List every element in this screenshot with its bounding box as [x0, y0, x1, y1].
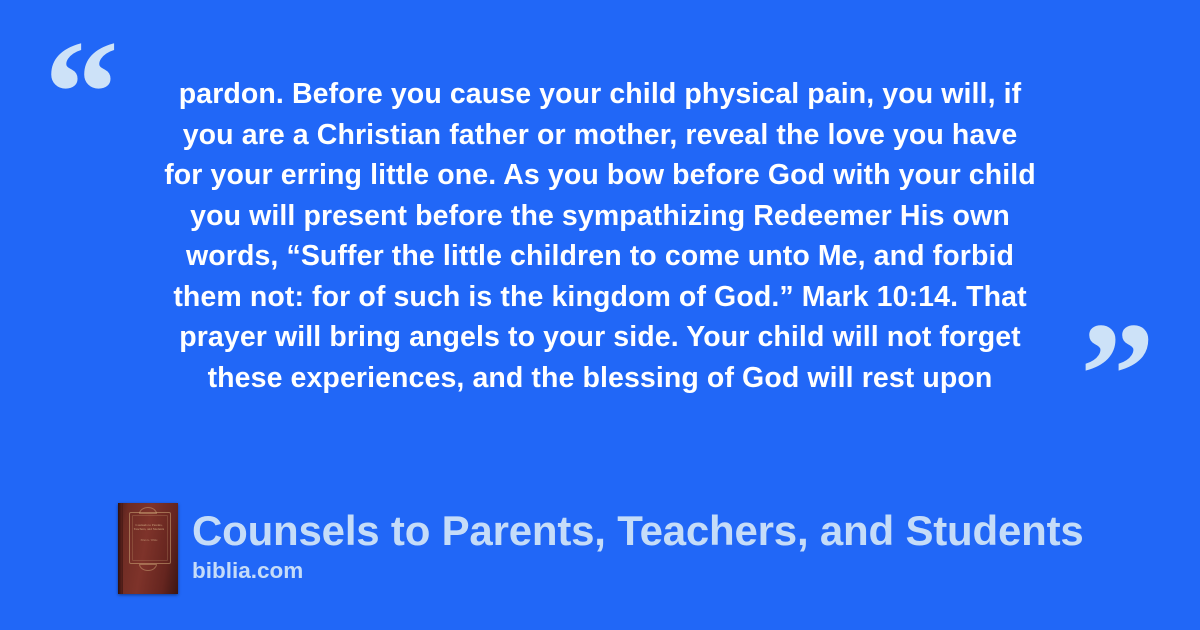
quote-card: “ pardon. Before you cause your child ph…: [0, 0, 1200, 630]
source-site-label: biblia.com: [192, 557, 1084, 585]
quote-line: words, “Suffer the little children to co…: [100, 236, 1100, 277]
book-ornament-bottom-icon: [139, 564, 157, 571]
book-cover-author: Ellen G. White: [131, 539, 167, 543]
book-cover-thumbnail: Counsels to Parents, Teachers, and Stude…: [118, 503, 178, 594]
quote-line: these experiences, and the blessing of G…: [100, 358, 1100, 399]
quote-line: you will present before the sympathizing…: [100, 196, 1100, 237]
attribution: Counsels to Parents, Teachers, and Stude…: [118, 503, 1084, 594]
quote-line: pardon. Before you cause your child phys…: [100, 74, 1100, 115]
closing-quote-icon: ”: [1080, 300, 1153, 450]
book-cover-frame: [129, 512, 171, 564]
quote-line: you are a Christian father or mother, re…: [100, 115, 1100, 156]
book-cover-frame-inner: [132, 515, 168, 561]
quote-line: for your erring little one. As you bow b…: [100, 155, 1100, 196]
attribution-text: Counsels to Parents, Teachers, and Stude…: [192, 503, 1084, 585]
work-title: Counsels to Parents, Teachers, and Stude…: [192, 507, 1084, 555]
quote-line: prayer will bring angels to your side. Y…: [100, 317, 1100, 358]
quote-text-block: pardon. Before you cause your child phys…: [100, 74, 1100, 398]
book-spine: [118, 503, 123, 594]
book-cover-title: Counsels to Parents, Teachers, and Stude…: [131, 523, 167, 532]
book-ornament-top-icon: [139, 507, 157, 514]
quote-line: them not: for of such is the kingdom of …: [100, 277, 1100, 318]
